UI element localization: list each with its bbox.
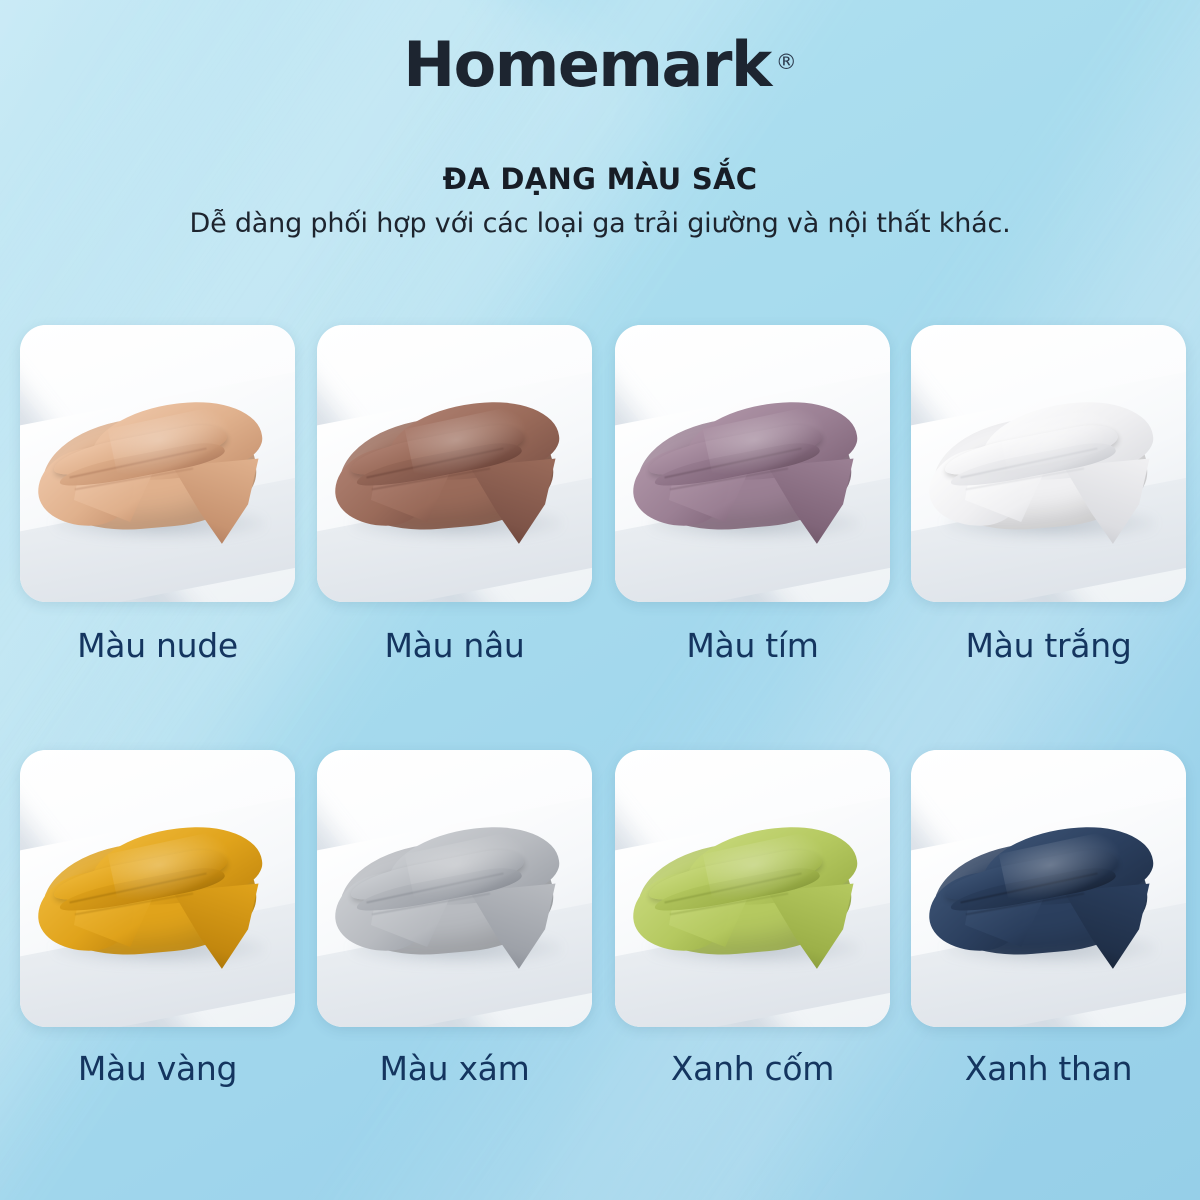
pillow-photo-card[interactable] <box>911 750 1186 1027</box>
color-swatch-grid: Màu nude <box>20 325 1190 1175</box>
pillow-image <box>633 404 873 536</box>
pillow-photo-card[interactable] <box>911 325 1186 602</box>
swatch-label: Màu nâu <box>317 626 592 665</box>
product-scene <box>20 750 295 1027</box>
pillow-image <box>335 829 575 961</box>
swatch-label: Xanh than <box>911 1049 1186 1088</box>
product-scene <box>911 325 1186 602</box>
pillow-image <box>335 404 575 536</box>
product-scene <box>317 325 592 602</box>
pillow-photo-card[interactable] <box>615 325 890 602</box>
pillow-image <box>633 829 873 961</box>
color-swatch-item[interactable]: Màu vàng <box>20 750 295 1088</box>
swatch-label: Màu tím <box>615 626 890 665</box>
page-title: ĐA DẠNG MÀU SẮC <box>0 162 1200 196</box>
color-swatch-item[interactable]: Xanh cốm <box>615 750 890 1088</box>
registered-trademark-icon: ® <box>776 50 797 74</box>
pillow-image <box>929 829 1169 961</box>
color-swatch-item[interactable]: Màu xám <box>317 750 592 1088</box>
swatch-label: Màu xám <box>317 1049 592 1088</box>
pillow-photo-card[interactable] <box>317 325 592 602</box>
product-color-variants-poster: Homemark® ĐA DẠNG MÀU SẮC Dễ dàng phối h… <box>0 0 1200 1200</box>
product-scene <box>615 750 890 1027</box>
pillow-image <box>929 404 1169 536</box>
color-swatch-item[interactable]: Màu nâu <box>317 325 592 665</box>
color-swatch-item[interactable]: Xanh than <box>911 750 1186 1088</box>
color-swatch-item[interactable]: Màu tím <box>615 325 890 665</box>
swatch-row: Màu vàng <box>20 750 1190 1175</box>
product-scene <box>20 325 295 602</box>
page-subtitle: Dễ dàng phối hợp với các loại ga trải gi… <box>0 208 1200 239</box>
product-scene <box>615 325 890 602</box>
pillow-image <box>38 404 278 536</box>
color-swatch-item[interactable]: Màu nude <box>20 325 295 665</box>
swatch-label: Màu nude <box>20 626 295 665</box>
product-scene <box>317 750 592 1027</box>
swatch-label: Màu vàng <box>20 1049 295 1088</box>
brand-name: Homemark <box>403 34 770 96</box>
product-scene <box>911 750 1186 1027</box>
pillow-photo-card[interactable] <box>20 325 295 602</box>
color-swatch-item[interactable]: Màu trắng <box>911 325 1186 665</box>
pillow-image <box>38 829 278 961</box>
swatch-label: Xanh cốm <box>615 1049 890 1088</box>
pillow-photo-card[interactable] <box>317 750 592 1027</box>
swatch-row: Màu nude <box>20 325 1190 750</box>
brand-logo: Homemark® <box>0 34 1200 96</box>
swatch-label: Màu trắng <box>911 626 1186 665</box>
pillow-photo-card[interactable] <box>615 750 890 1027</box>
pillow-photo-card[interactable] <box>20 750 295 1027</box>
